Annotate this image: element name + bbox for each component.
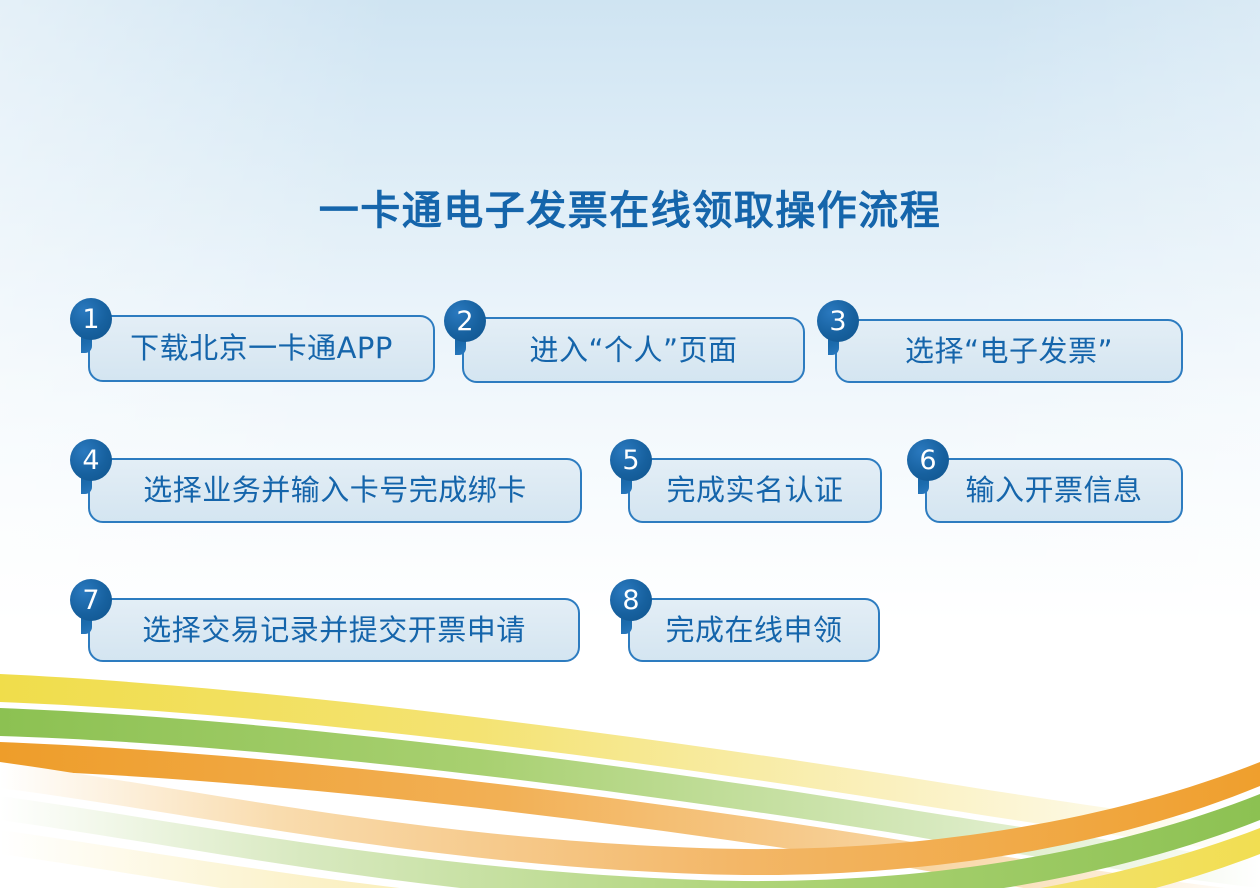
step-box-6[interactable]: 输入开票信息 <box>925 458 1183 523</box>
step-box-4[interactable]: 选择业务并输入卡号完成绑卡 <box>88 458 582 523</box>
step-item-7[interactable]: 选择交易记录并提交开票申请 7 <box>88 598 580 662</box>
step-badge-8: 8 <box>610 579 652 621</box>
ribbon-wave-decoration <box>0 658 1260 888</box>
step-label-4: 选择业务并输入卡号完成绑卡 <box>129 476 541 505</box>
step-item-8[interactable]: 完成在线申领 8 <box>628 598 880 662</box>
step-item-1[interactable]: 下载北京一卡通APP 1 <box>88 315 435 382</box>
step-label-6: 输入开票信息 <box>951 476 1156 505</box>
step-badge-5: 5 <box>610 439 652 481</box>
page-title: 一卡通电子发票在线领取操作流程 <box>0 178 1260 236</box>
step-badge-2: 2 <box>444 300 486 342</box>
poster-canvas: 一卡通电子发票在线领取操作流程 下载北京一卡通APP 1 进入“个人”页面 2 … <box>0 0 1260 888</box>
step-badge-1: 1 <box>70 298 112 340</box>
step-box-7[interactable]: 选择交易记录并提交开票申请 <box>88 598 580 662</box>
step-item-4[interactable]: 选择业务并输入卡号完成绑卡 4 <box>88 458 582 523</box>
step-box-8[interactable]: 完成在线申领 <box>628 598 880 662</box>
step-item-2[interactable]: 进入“个人”页面 2 <box>462 317 805 383</box>
step-label-5: 完成实名认证 <box>652 476 857 505</box>
step-badge-4: 4 <box>70 439 112 481</box>
step-box-2[interactable]: 进入“个人”页面 <box>462 317 805 383</box>
step-badge-7: 7 <box>70 579 112 621</box>
step-box-1[interactable]: 下载北京一卡通APP <box>88 315 435 382</box>
step-label-8: 完成在线申领 <box>651 616 856 645</box>
step-item-6[interactable]: 输入开票信息 6 <box>925 458 1183 523</box>
step-box-5[interactable]: 完成实名认证 <box>628 458 882 523</box>
step-label-2: 进入“个人”页面 <box>515 336 751 365</box>
step-label-3: 选择“电子发票” <box>891 337 1127 366</box>
step-badge-6: 6 <box>907 439 949 481</box>
step-label-7: 选择交易记录并提交开票申请 <box>128 616 540 645</box>
step-badge-3: 3 <box>817 300 859 342</box>
step-box-3[interactable]: 选择“电子发票” <box>835 319 1183 383</box>
step-item-3[interactable]: 选择“电子发票” 3 <box>835 319 1183 383</box>
step-label-1: 下载北京一卡通APP <box>116 334 407 363</box>
step-item-5[interactable]: 完成实名认证 5 <box>628 458 882 523</box>
